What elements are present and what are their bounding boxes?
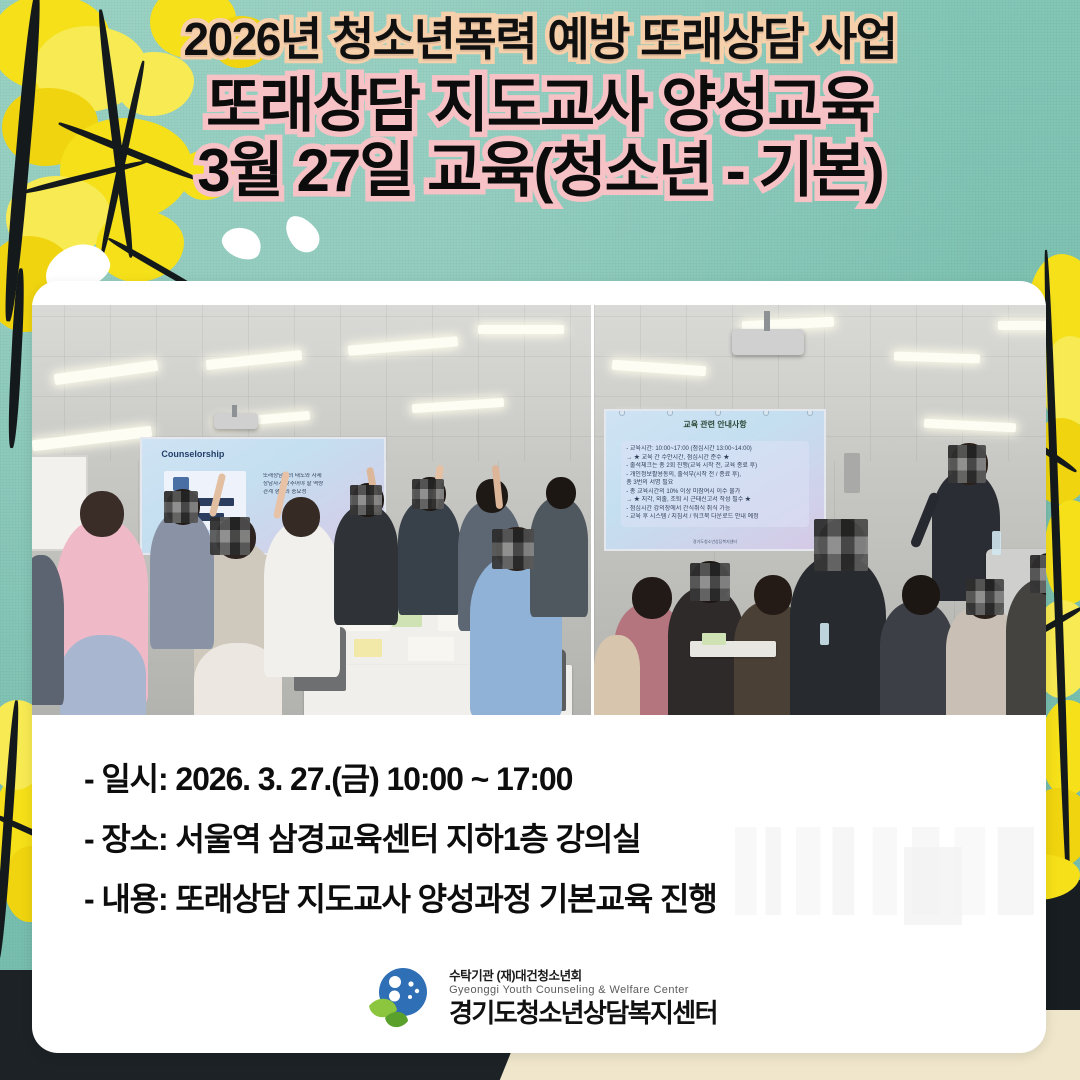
presentation-screen-right: 교육 관련 안내사항 - 교육시간: 10:00~17:00 (점심시간 13:… <box>604 409 826 551</box>
projector-unit <box>732 329 804 355</box>
detail-line-datetime: - 일시: 2026. 3. 27.(금) 10:00 ~ 17:00 <box>84 763 964 795</box>
face-blur <box>210 517 250 555</box>
slide-line: - 점심시간 강의장에서 간식취식 취식 가능 <box>626 505 804 514</box>
face-blur <box>412 479 444 509</box>
slide-line: → ★ 교육 간 수안시간, 점심시간 준수 ★ <box>626 454 804 463</box>
face-blur <box>966 579 1004 615</box>
face-blur <box>948 445 986 483</box>
face-blur <box>814 519 868 571</box>
slide-line: → ★ 지각, 외출, 조퇴 시 근태신고서 작성 필수 ★ <box>626 496 804 505</box>
photo-strip: Counselorship 또래상담자의 태도와 자세 상담자가 갖추어야 할 … <box>32 305 1046 715</box>
slide-line: 총 3번의 서명 필요 <box>626 479 804 488</box>
slide-title-left: Counselorship <box>161 449 384 459</box>
face-blur <box>1030 555 1046 593</box>
footer-logo-text: 수탁기관 (재)대건청소년회 Gyeonggi Youth Counseling… <box>449 969 717 1028</box>
footer-logo-line-2: Gyeonggi Youth Counseling & Welfare Cent… <box>449 984 717 997</box>
footer-logo: 수탁기관 (재)대건청소년회 Gyeonggi Youth Counseling… <box>0 966 1080 1032</box>
slide-line: 또래상담자의 태도와 자세 <box>263 473 369 481</box>
slide-title-right: 교육 관련 안내사항 <box>606 419 824 430</box>
content-card: Counselorship 또래상담자의 태도와 자세 상담자가 갖추어야 할 … <box>32 281 1046 1053</box>
detail-line-location: - 장소: 서울역 삼경교육센터 지하1층 강의실 <box>84 823 964 855</box>
slide-footer-logo: 경기도청소년상담복지센터 <box>693 539 737 545</box>
screen-clips <box>615 409 816 416</box>
slide-line: - 개인정보활용동의, 출석부(시작 전 / 종료 후), <box>626 471 804 480</box>
slide-line: - 총 교육시간의 10% 이상 미참여시 이수 불가 <box>626 488 804 497</box>
poster-canvas: 2026년 청소년폭력 예방 또래상담 사업 또래상담 지도교사 양성교육 3월… <box>0 0 1080 1080</box>
detail-list: - 일시: 2026. 3. 27.(금) 10:00 ~ 17:00 - 장소… <box>84 763 964 943</box>
detail-line-content: - 내용: 또래상담 지도교사 양성과정 기본교육 진행 <box>84 883 964 915</box>
slide-line: - 교육시간: 10:00~17:00 (점심시간 13:00~14:00) <box>626 445 804 454</box>
face-blur <box>492 529 534 569</box>
face-blur <box>350 485 382 515</box>
slide-body-right: - 교육시간: 10:00~17:00 (점심시간 13:00~14:00) →… <box>621 441 809 527</box>
slide-line: - 교육 후 시스템 / 지침서 / 워크북 다운로드 안내 예정 <box>626 513 804 522</box>
photo-left-classroom-activity: Counselorship 또래상담자의 태도와 자세 상담자가 갖추어야 할 … <box>32 305 591 715</box>
center-logo-icon <box>363 966 437 1032</box>
face-blur <box>690 563 730 601</box>
slide-line: - 출석체크는 총 2회 진행(교육 시작 전, 교육 종료 후) <box>626 462 804 471</box>
face-blur <box>164 491 198 523</box>
footer-logo-line-1: 수탁기관 (재)대건청소년회 <box>449 969 717 984</box>
photo-right-lecture: 교육 관련 안내사항 - 교육시간: 10:00~17:00 (점심시간 13:… <box>594 305 1046 715</box>
footer-logo-line-3: 경기도청소년상담복지센터 <box>449 998 717 1029</box>
